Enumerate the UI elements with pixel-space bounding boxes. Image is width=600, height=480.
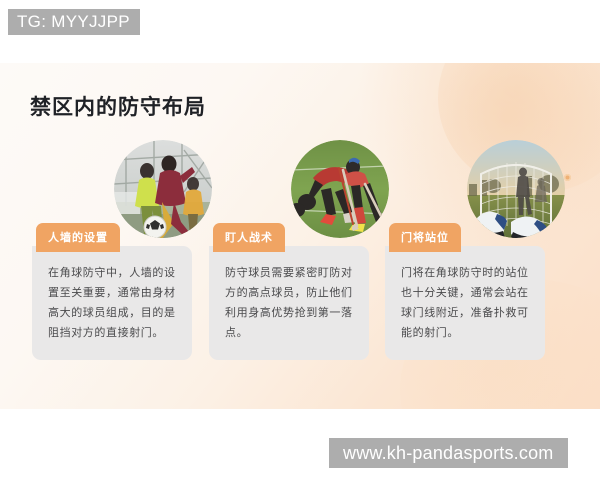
column-body-text: 在角球防守中，人墙的设置至关重要，通常由身材高大的球员组成，目的是阻挡对方的直接… <box>48 263 178 343</box>
column-tag-label: 人墙的设置 <box>36 223 120 252</box>
column-body-box: 防守球员需要紧密盯防对方的高点球员，防止他们利用身高优势抢到第一落点。 <box>209 246 369 360</box>
column-body-text: 防守球员需要紧密盯防对方的高点球员，防止他们利用身高优势抢到第一落点。 <box>225 263 355 343</box>
column-body-box: 门将在角球防守时的站位也十分关键，通常会站在球门线附近，准备扑救可能的射门。 <box>385 246 545 360</box>
column-body-text: 门将在角球防守时的站位也十分关键，通常会站在球门线附近，准备扑救可能的射门。 <box>401 263 531 343</box>
column-tag-label: 盯人战术 <box>213 223 285 252</box>
goalkeeper-gloves-goal-photo <box>467 140 565 238</box>
field-hockey-players-photo <box>291 140 389 238</box>
page-title: 禁区内的防守布局 <box>30 91 206 121</box>
column-body-box: 在角球防守中，人墙的设置至关重要，通常由身材高大的球员组成，目的是阻挡对方的直接… <box>32 246 192 360</box>
indoor-soccer-players-photo <box>114 140 212 238</box>
infographic-card: 禁区内的防守布局 <box>0 63 600 409</box>
decorative-dot-icon <box>564 174 571 181</box>
column-tag-label: 门将站位 <box>389 223 461 252</box>
tg-watermark-badge: TG: MYYJJPP <box>8 9 140 35</box>
url-watermark-badge: www.kh-pandasports.com <box>329 438 568 468</box>
